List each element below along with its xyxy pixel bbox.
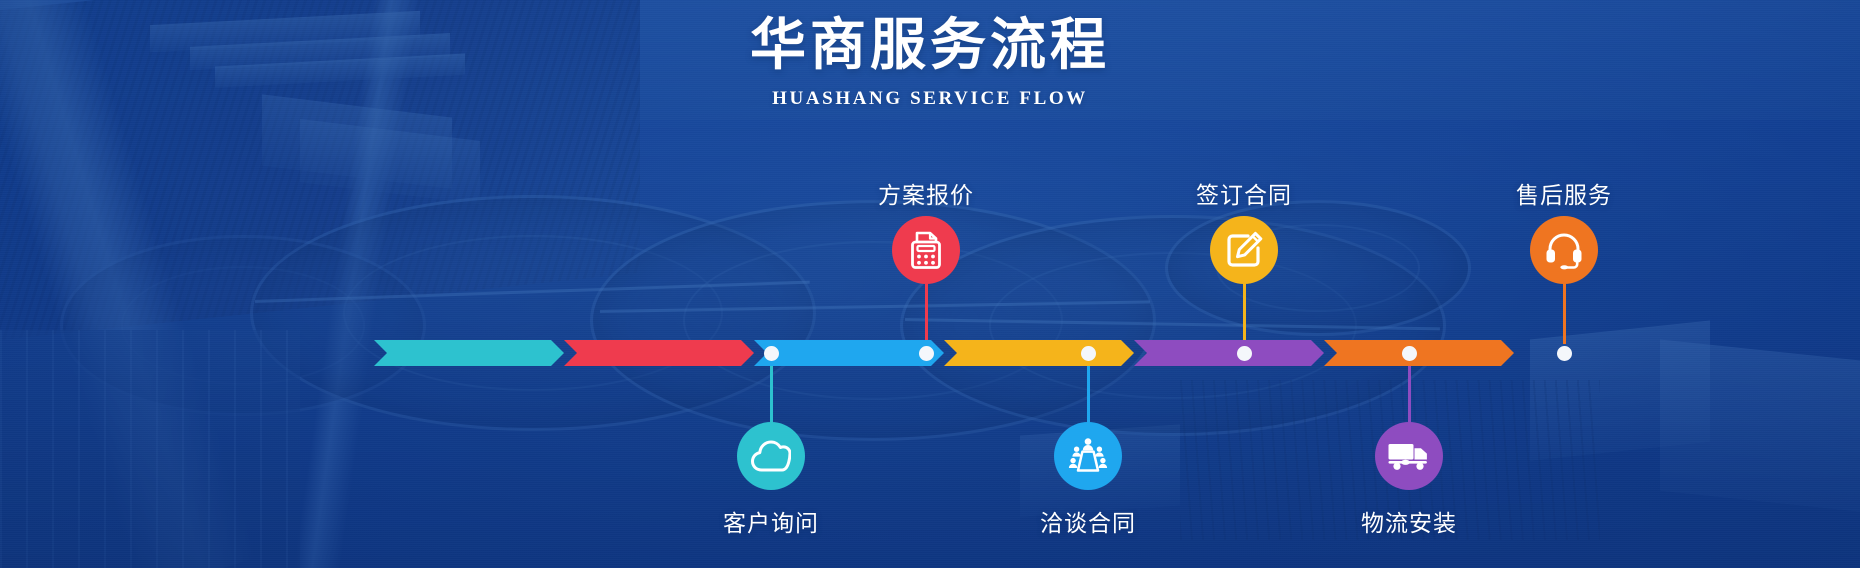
delivery-truck-icon (1387, 440, 1431, 472)
flow-node-dot-6 (1557, 346, 1572, 361)
flow-arrow-strip (374, 340, 1514, 366)
flow-connector-2 (925, 282, 928, 344)
service-flow-banner: 华商服务流程 HUASHANG SERVICE FLOW 客户询问 方案报价 (0, 0, 1860, 568)
headset-support-icon (1544, 230, 1584, 270)
flow-connector-4 (1243, 282, 1246, 344)
flow-arrow-1[interactable] (374, 340, 564, 366)
page-title: 华商服务流程 (0, 14, 1860, 76)
flow-step-label-4: 签订合同 (1196, 176, 1292, 210)
flow-node-dot-1 (764, 346, 779, 361)
cloud-chat-icon (751, 439, 791, 473)
flow-connector-3 (1087, 362, 1090, 424)
flow-step-label-1: 客户询问 (723, 504, 819, 538)
flow-step-label-6: 售后服务 (1516, 176, 1612, 210)
flow-step-icon-1[interactable] (737, 422, 805, 490)
banner-heading: 华商服务流程 HUASHANG SERVICE FLOW (0, 14, 1860, 110)
calculator-receipt-icon (908, 229, 944, 271)
flow-step-icon-5[interactable] (1375, 422, 1443, 490)
flow-arrow-2[interactable] (564, 340, 754, 366)
flow-node-dot-3 (1081, 346, 1096, 361)
flow-node-dot-2 (919, 346, 934, 361)
flow-step-icon-4[interactable] (1210, 216, 1278, 284)
flow-arrow-6[interactable] (1324, 340, 1514, 366)
flow-connector-1 (770, 362, 773, 424)
flow-arrow-4[interactable] (944, 340, 1134, 366)
flow-node-dot-4 (1237, 346, 1252, 361)
pencil-sign-icon (1224, 230, 1264, 270)
flow-step-icon-2[interactable] (892, 216, 960, 284)
flow-step-label-5: 物流安装 (1361, 504, 1457, 538)
flow-arrow-3[interactable] (754, 340, 944, 366)
flow-connector-5 (1408, 362, 1411, 424)
flow-connector-6 (1563, 282, 1566, 344)
flow-step-label-3: 洽谈合同 (1040, 504, 1136, 538)
flow-step-icon-3[interactable] (1054, 422, 1122, 490)
flow-step-icon-6[interactable] (1530, 216, 1598, 284)
flow-step-label-2: 方案报价 (878, 176, 974, 210)
flow-node-dot-5 (1402, 346, 1417, 361)
flow-arrow-5[interactable] (1134, 340, 1324, 366)
meeting-table-icon (1067, 437, 1109, 475)
page-subtitle: HUASHANG SERVICE FLOW (0, 88, 1860, 110)
